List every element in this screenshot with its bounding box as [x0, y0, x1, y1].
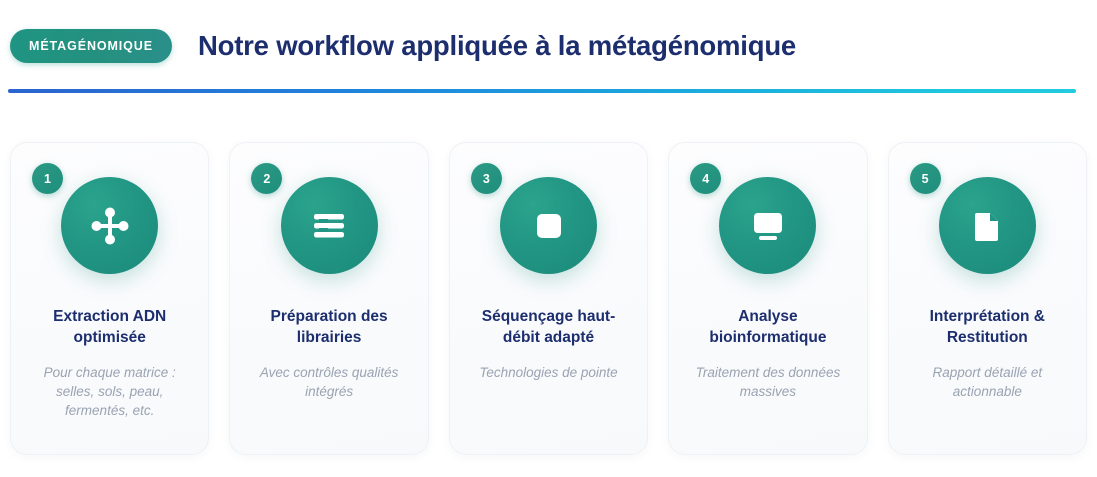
workflow-step-card-4[interactable]: 4 Analyse bioinformatique Traitement des… [668, 142, 867, 455]
step-description: Technologies de pointe [466, 363, 632, 382]
step-number-badge: 5 [910, 163, 941, 194]
monitor-icon [719, 177, 816, 274]
step-title: Préparation des librairies [244, 307, 414, 349]
workflow-section: MÉTAGÉNOMIQUE Notre workflow appliquée à… [0, 0, 1097, 477]
step-description: Rapport détaillé et actionnable [904, 363, 1070, 401]
step-description: Avec contrôles qualités intégrés [246, 363, 412, 401]
workflow-steps-list: 1 Extraction ADN optimisée Pour chaque m… [10, 142, 1087, 455]
molecule-icon [61, 177, 158, 274]
header-divider [8, 89, 1076, 93]
workflow-step-card-2[interactable]: 2 Préparation des librairies Avec contrô… [229, 142, 428, 455]
step-title: Séquençage haut-débit adapté [464, 307, 634, 349]
workflow-step-card-1[interactable]: 1 Extraction ADN optimisée Pour chaque m… [10, 142, 209, 455]
step-title: Analyse bioinformatique [683, 307, 853, 349]
step-title: Interprétation & Restitution [902, 307, 1072, 349]
page-title: Notre workflow appliquée à la métagénomi… [198, 30, 796, 62]
step-description: Pour chaque matrice : selles, sols, peau… [27, 363, 193, 420]
document-icon [939, 177, 1036, 274]
step-number-badge: 4 [690, 163, 721, 194]
workflow-step-card-3[interactable]: 3 Séquençage haut-débit adapté Technolog… [449, 142, 648, 455]
step-title: Extraction ADN optimisée [25, 307, 195, 349]
bars-list-icon [281, 177, 378, 274]
step-number-badge: 1 [32, 163, 63, 194]
section-header: MÉTAGÉNOMIQUE Notre workflow appliquée à… [0, 0, 1097, 92]
step-number-badge: 2 [251, 163, 282, 194]
workflow-step-card-5[interactable]: 5 Interprétation & Restitution Rapport d… [888, 142, 1087, 455]
chip-square-icon [500, 177, 597, 274]
step-number-badge: 3 [471, 163, 502, 194]
category-tag-badge: MÉTAGÉNOMIQUE [10, 29, 172, 63]
step-description: Traitement des données massives [685, 363, 851, 401]
